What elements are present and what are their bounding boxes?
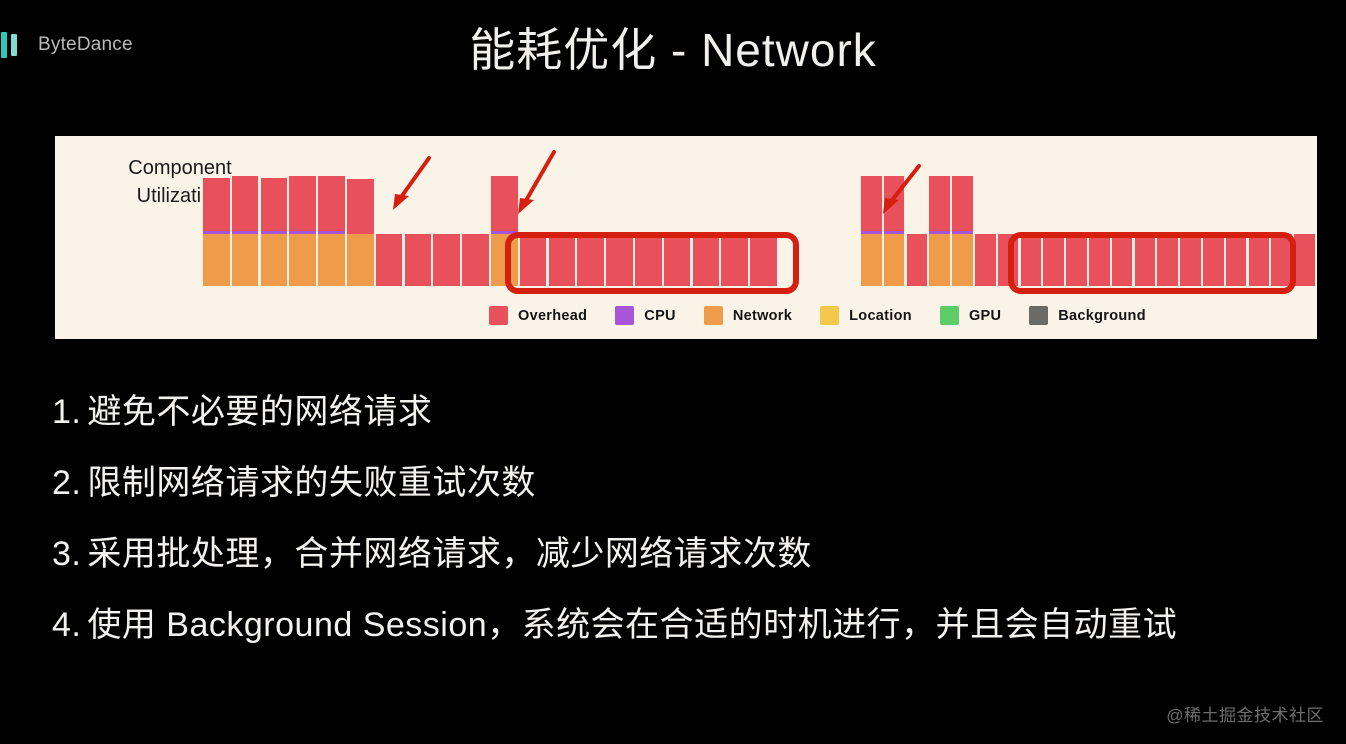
bar-segment-network	[231, 234, 260, 286]
bullet-number: 3.	[52, 535, 81, 573]
legend-item-network: Network	[704, 306, 792, 325]
bullet-text: 避免不必要的网络请求	[87, 393, 432, 431]
arrow-annotation-2	[510, 150, 570, 224]
bar-segment-overhead	[906, 234, 929, 286]
bullet-item-3: 3.采用批处理，合并网络请求，减少网络请求次数	[52, 532, 1292, 577]
bar-segment-network	[951, 234, 974, 286]
highlight-region-overhead-only-run-right	[1008, 232, 1296, 294]
bullet-item-2: 2.限制网络请求的失败重试次数	[52, 461, 1292, 506]
bar-segment-network	[288, 234, 317, 286]
bar-segment-overhead	[317, 176, 346, 231]
legend-item-location: Location	[820, 306, 912, 325]
bar-t3	[260, 178, 289, 286]
bar-t6	[346, 179, 375, 286]
bar-t10	[461, 234, 490, 286]
legend-label: Network	[733, 308, 792, 324]
bullet-number: 1.	[52, 393, 81, 431]
legend-item-cpu: CPU	[615, 306, 676, 325]
bar-t25	[951, 176, 974, 286]
bar-segment-overhead	[461, 234, 490, 286]
legend-swatch-background	[1029, 306, 1048, 325]
legend-label: CPU	[644, 308, 676, 324]
bar-segment-overhead	[346, 179, 375, 234]
bar-segment-network	[202, 234, 231, 286]
bullet-text: 采用批处理，合并网络请求，减少网络请求次数	[87, 535, 812, 573]
bar-segment-overhead	[231, 176, 260, 231]
highlight-region-overhead-only-run-left	[505, 232, 799, 294]
bar-segment-overhead	[1293, 234, 1316, 286]
bullet-text: 限制网络请求的失败重试次数	[87, 464, 536, 502]
bar-t4	[288, 176, 317, 286]
bullet-number: 4.	[52, 606, 81, 644]
bar-t26	[974, 234, 997, 286]
watermark: @稀土掘金技术社区	[1166, 701, 1324, 726]
bar-t23	[906, 234, 929, 286]
bar-t7	[375, 234, 404, 286]
bar-segment-network	[883, 234, 906, 286]
bar-segment-network	[317, 234, 346, 286]
bullet-text: 使用 Background Session，系统会在合适的时机进行，并且会自动重…	[87, 606, 1177, 644]
bar-t9	[432, 234, 461, 286]
bar-segment-overhead	[375, 234, 404, 286]
bar-segment-overhead	[404, 234, 433, 286]
slide-title: 能耗优化 - Network	[0, 14, 1346, 80]
bar-segment-overhead	[974, 234, 997, 286]
bullet-number: 2.	[52, 464, 81, 502]
bar-segment-overhead	[288, 176, 317, 231]
bar-segment-network	[928, 234, 951, 286]
bullet-item-4: 4.使用 Background Session，系统会在合适的时机进行，并且会自…	[52, 603, 1292, 648]
legend-label: Background	[1058, 308, 1146, 324]
legend-swatch-cpu	[615, 306, 634, 325]
chart-panel: Component Utilization OverheadCPUNetwork…	[55, 136, 1317, 339]
legend-swatch-location	[820, 306, 839, 325]
bar-t2	[231, 176, 260, 286]
bar-t1	[202, 178, 231, 286]
bar-segment-overhead	[202, 178, 231, 231]
legend-label: Overhead	[518, 308, 587, 324]
bullet-list: 1.避免不必要的网络请求2.限制网络请求的失败重试次数3.采用批处理，合并网络请…	[52, 390, 1292, 674]
legend-swatch-network	[704, 306, 723, 325]
bar-segment-network	[260, 234, 289, 286]
legend-label: GPU	[969, 308, 1001, 324]
legend-item-gpu: GPU	[940, 306, 1001, 325]
legend-swatch-overhead	[489, 306, 508, 325]
bar-segment-network	[860, 234, 883, 286]
arrow-annotation-3	[875, 164, 935, 224]
legend-item-background: Background	[1029, 306, 1146, 325]
bar-t8	[404, 234, 433, 286]
bar-segment-overhead	[951, 176, 974, 231]
bar-segment-overhead	[432, 234, 461, 286]
legend-item-overhead: Overhead	[489, 306, 587, 325]
chart-legend: OverheadCPUNetworkLocationGPUBackground	[489, 306, 1174, 325]
bar-segment-overhead	[260, 178, 289, 231]
bar-t40	[1293, 234, 1316, 286]
legend-label: Location	[849, 308, 912, 324]
bar-segment-network	[346, 234, 375, 286]
arrow-annotation-1	[385, 156, 445, 220]
bar-t5	[317, 176, 346, 286]
bullet-item-1: 1.避免不必要的网络请求	[52, 390, 1292, 435]
legend-swatch-gpu	[940, 306, 959, 325]
